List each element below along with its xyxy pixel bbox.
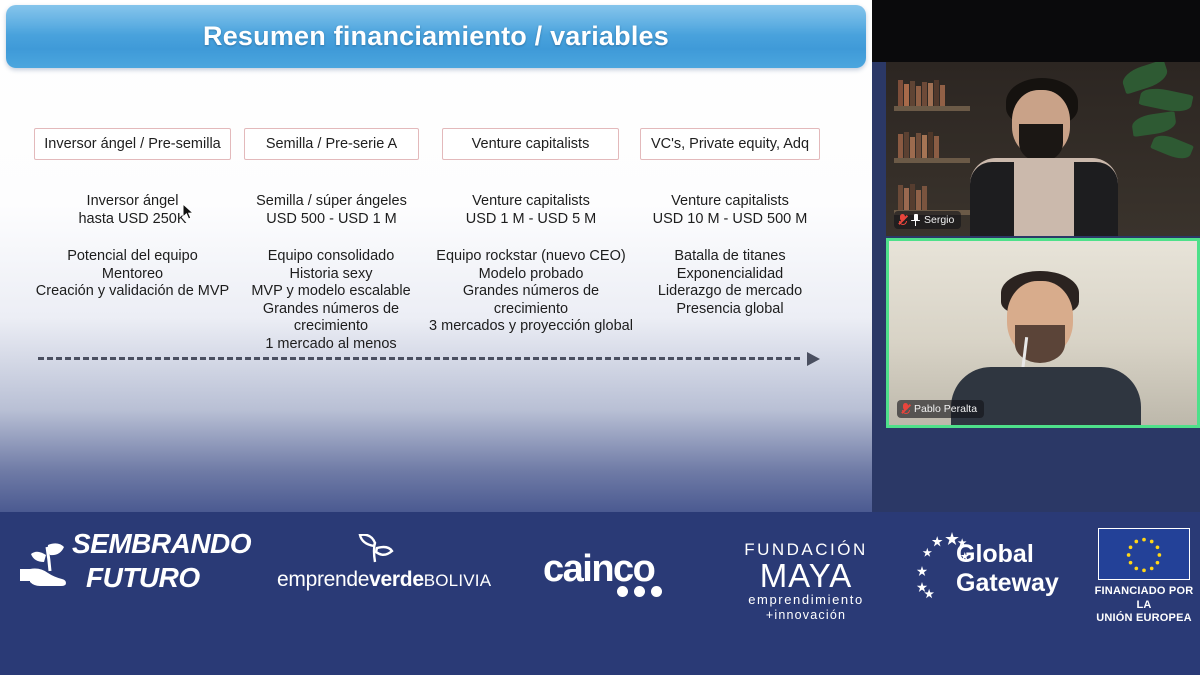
logo-sembrando-futuro: SEMBRANDO FUTURO	[18, 527, 270, 599]
arrow-dashed-line	[38, 357, 800, 360]
bookshelf-shelf	[894, 106, 970, 111]
video-tile-sergio[interactable]: Sergio	[886, 62, 1200, 236]
logo-fundacion-maya: FUNDACIÓN MAYA emprendimiento +innovació…	[720, 540, 892, 624]
mic-muted-icon	[898, 214, 907, 226]
logo-union-europea-caption: FINANCIADO POR LA UNIÓN EUROPEA	[1092, 585, 1196, 626]
logo-emprende-verde-bolivia: emprendeverdeBOLIVIA	[277, 534, 509, 598]
screen: Resumen financiamiento / variables Inver…	[0, 0, 1200, 675]
logo-global-gateway: Global Gateway	[912, 528, 1062, 602]
point-line: 3 mercados y proyección global	[419, 318, 643, 336]
point-line: Historia sexy	[241, 266, 421, 284]
point-line: Equipo consolidado	[241, 248, 421, 266]
participant-name-pill-pablo: Pablo Peralta	[897, 400, 984, 418]
point-line: Creación y validación de MVP	[34, 283, 231, 301]
stage-header-4: VC's, Private equity, Adq	[640, 128, 820, 160]
amount-line: Venture capitalists	[425, 192, 637, 210]
point-line: Batalla de titanes	[640, 248, 820, 266]
logo-line-4: +innovación	[720, 608, 892, 623]
participant-name-pill-sergio: Sergio	[894, 211, 961, 229]
stage-amount-4: Venture capitalists USD 10 M - USD 500 M	[640, 192, 820, 228]
video-panel-top-bar	[872, 0, 1200, 62]
point-line: Exponencialidad	[640, 266, 820, 284]
amount-line: Inversor ángel	[34, 192, 231, 210]
logo-part-1: emprende	[277, 568, 369, 591]
point-line: MVP y modelo escalable	[241, 283, 421, 301]
page-title: Resumen financiamiento / variables	[203, 21, 669, 52]
participant-name: Sergio	[924, 214, 954, 226]
participant-beard	[1019, 124, 1063, 162]
funding-column-2: Semilla / Pre-serie A Semilla / súper án…	[250, 128, 413, 353]
point-line: crecimiento	[241, 318, 421, 336]
amount-line: USD 1 M - USD 5 M	[425, 210, 637, 228]
point-line: Modelo probado	[419, 266, 643, 284]
funding-stage-columns: Inversor ángel / Pre-semilla Inversor án…	[0, 128, 872, 368]
stage-points-4: Batalla de titanes Exponencialidad Lider…	[640, 248, 820, 318]
funding-column-4: VC's, Private equity, Adq Venture capita…	[640, 128, 820, 318]
logo-part-2: verde	[369, 568, 424, 591]
stage-header-3: Venture capitalists	[442, 128, 619, 160]
logo-line-2: Gateway	[956, 569, 1059, 598]
stage-amount-1: Inversor ángel hasta USD 250K	[34, 192, 231, 228]
sprout-icon	[355, 534, 397, 564]
point-line: Liderazgo de mercado	[640, 283, 820, 301]
point-line: crecimiento	[419, 301, 643, 319]
funding-column-1: Inversor ángel / Pre-semilla Inversor án…	[34, 128, 231, 301]
books-row	[898, 80, 945, 106]
logo-cainco: cainco	[543, 550, 693, 602]
logo-emprende-verde-text: emprendeverdeBOLIVIA	[277, 568, 491, 592]
eu-flag-icon	[1098, 528, 1190, 580]
presentation-slide: Resumen financiamiento / variables Inver…	[0, 0, 872, 512]
amount-line: hasta USD 250K	[34, 210, 231, 228]
participant-torso	[951, 367, 1141, 428]
stage-header-1: Inversor ángel / Pre-semilla	[34, 128, 231, 160]
participant-name: Pablo Peralta	[914, 403, 977, 415]
point-line: Mentoreo	[34, 266, 231, 284]
bookshelf-shelf	[894, 158, 970, 163]
point-line: Presencia global	[640, 301, 820, 319]
stage-points-2: Equipo consolidado Historia sexy MVP y m…	[241, 248, 421, 353]
logo-line-3: emprendimiento	[720, 592, 892, 608]
video-tile-pablo-peralta[interactable]: Pablo Peralta	[886, 238, 1200, 428]
point-line: Grandes números de	[241, 301, 421, 319]
mouse-cursor-icon	[182, 203, 194, 221]
point-line: 1 mercado al menos	[241, 336, 421, 354]
logo-line-2: FUTURO	[86, 561, 251, 595]
amount-line: Venture capitalists	[640, 192, 820, 210]
amount-line: USD 500 - USD 1 M	[250, 210, 413, 228]
participant-jacket-right	[1074, 162, 1118, 236]
logo-part-3: BOLIVIA	[424, 571, 492, 590]
point-line: Equipo rockstar (nuevo CEO)	[419, 248, 643, 266]
logo-line-1: SEMBRANDO	[72, 527, 251, 561]
caption-line-1: FINANCIADO POR LA	[1092, 585, 1196, 612]
progression-arrow-icon	[38, 352, 820, 366]
logo-sembrando-futuro-text: SEMBRANDO FUTURO	[72, 527, 251, 595]
amount-line: Semilla / súper ángeles	[250, 192, 413, 210]
books-row	[898, 184, 927, 210]
slide-title-banner: Resumen financiamiento / variables	[6, 5, 866, 68]
point-line: Potencial del equipo	[34, 248, 231, 266]
hand-sprout-icon	[18, 539, 76, 587]
stage-header-2: Semilla / Pre-serie A	[244, 128, 419, 160]
logo-cainco-text: cainco	[543, 550, 693, 588]
mic-muted-icon	[901, 403, 910, 415]
stage-amount-3: Venture capitalists USD 1 M - USD 5 M	[425, 192, 637, 228]
point-line: Grandes números de	[419, 283, 643, 301]
pin-icon	[911, 214, 920, 226]
arrow-head	[807, 352, 820, 366]
stage-amount-2: Semilla / súper ángeles USD 500 - USD 1 …	[250, 192, 413, 228]
participant-jacket-left	[970, 162, 1014, 236]
amount-line: USD 10 M - USD 500 M	[640, 210, 820, 228]
caption-line-2: UNIÓN EUROPEA	[1092, 612, 1196, 626]
logo-line-1: Global	[956, 540, 1059, 569]
three-dots-icon	[617, 586, 662, 597]
logo-line-2: MAYA	[720, 559, 892, 592]
logo-global-gateway-text: Global Gateway	[956, 540, 1059, 598]
funding-column-3: Venture capitalists Venture capitalists …	[425, 128, 637, 336]
books-row	[898, 132, 939, 158]
stage-points-3: Equipo rockstar (nuevo CEO) Modelo proba…	[419, 248, 643, 336]
stage-points-1: Potencial del equipo Mentoreo Creación y…	[34, 248, 231, 301]
logo-union-europea: FINANCIADO POR LA UNIÓN EUROPEA	[1092, 528, 1196, 608]
